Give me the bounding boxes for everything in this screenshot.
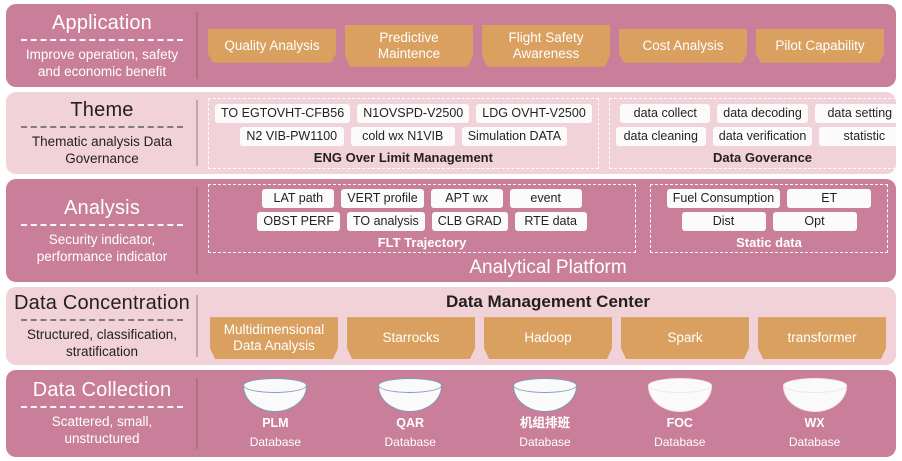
application-label-column: Application Improve operation, safety an…: [6, 4, 198, 87]
theme-group-data-goverance: data collect data decoding data setting …: [609, 98, 896, 168]
chip-grid: TO EGTOVHT-CFB56 N1OVSPD-V2500 LDG OVHT-…: [215, 104, 592, 146]
theme-group-caption-eng: ENG Over Limit Management: [215, 150, 592, 165]
analysis-chip-lat-path[interactable]: LAT path: [262, 189, 334, 208]
concentration-item-hadoop[interactable]: Hadoop: [484, 317, 612, 359]
concentration-layer-title: Data Concentration: [14, 292, 190, 315]
analysis-group-caption-static: Static data: [657, 235, 881, 250]
collection-layer-title: Data Collection: [33, 379, 172, 402]
analytical-platform-title: Analytical Platform: [208, 257, 888, 279]
theme-chip-statistic[interactable]: statistic: [819, 127, 896, 146]
theme-group-eng-over-limit: TO EGTOVHT-CFB56 N1OVSPD-V2500 LDG OVHT-…: [208, 98, 599, 168]
analysis-chip-et[interactable]: ET: [787, 189, 871, 208]
application-item-predictive-maintence[interactable]: Predictive Maintence: [345, 25, 473, 67]
concentration-item-multidimensional-data-analysis[interactable]: Multidimensional Data Analysis: [210, 317, 338, 359]
database-item-foc[interactable]: FOC Database: [648, 378, 712, 449]
application-item-cost-analysis[interactable]: Cost Analysis: [619, 29, 747, 63]
chip-row: N2 VIB-PW1100 cold wx N1VIB Simulation D…: [215, 127, 592, 146]
theme-chip-data-collect[interactable]: data collect: [620, 104, 710, 123]
concentration-item-starrocks[interactable]: Starrocks: [347, 317, 475, 359]
label-divider: [21, 126, 183, 128]
analysis-label-column: Analysis Security indicator, performance…: [6, 179, 198, 282]
database-name-qar: QAR: [396, 416, 424, 431]
analysis-layer-subtitle: Security indicator, performance indicato…: [14, 231, 190, 265]
layer-row-analysis: Analysis Security indicator, performance…: [6, 179, 896, 282]
concentration-label-column: Data Concentration Structured, classific…: [6, 287, 198, 364]
layer-row-theme: Theme Thematic analysis Data Governance …: [6, 92, 896, 173]
layer-row-data-collection: Data Collection Scattered, small, unstru…: [6, 370, 896, 457]
chip-row: Dist Opt: [657, 212, 881, 231]
layer-row-application: Application Improve operation, safety an…: [6, 4, 896, 87]
application-item-pilot-capability[interactable]: Pilot Capability: [756, 29, 884, 63]
database-cylinder-icon: [783, 378, 847, 412]
chip-grid: LAT path VERT profile APT wx event OBST …: [215, 189, 629, 231]
database-item-crew-scheduling[interactable]: 机组排班 Database: [513, 378, 577, 449]
analysis-chip-to-analysis[interactable]: TO analysis: [347, 212, 425, 231]
database-sublabel: Database: [654, 435, 705, 449]
application-items: Quality Analysis Predictive Maintence Fl…: [198, 4, 896, 87]
database-sublabel: Database: [519, 435, 570, 449]
database-item-plm[interactable]: PLM Database: [243, 378, 307, 449]
chip-row: data cleaning data verification statisti…: [616, 127, 896, 146]
application-layer-title: Application: [52, 12, 152, 35]
analysis-content: LAT path VERT profile APT wx event OBST …: [198, 179, 896, 282]
analysis-chip-clb-grad[interactable]: CLB GRAD: [432, 212, 508, 231]
cylinder-top: [513, 378, 577, 393]
analysis-group-caption-flt: FLT Trajectory: [215, 235, 629, 250]
label-divider: [21, 319, 183, 321]
cylinder-top: [378, 378, 442, 393]
database-item-qar[interactable]: QAR Database: [378, 378, 442, 449]
database-name-foc: FOC: [667, 416, 693, 431]
chip-row: OBST PERF TO analysis CLB GRAD RTE data: [215, 212, 629, 231]
application-item-flight-safety-awareness[interactable]: Flight Safety Awareness: [482, 25, 610, 67]
database-name-plm: PLM: [262, 416, 288, 431]
database-cylinder-icon: [378, 378, 442, 412]
database-cylinder-icon: [243, 378, 307, 412]
analysis-chip-obst-perf[interactable]: OBST PERF: [257, 212, 340, 231]
database-item-wx[interactable]: WX Database: [783, 378, 847, 449]
theme-label-column: Theme Thematic analysis Data Governance: [6, 92, 198, 173]
label-divider: [21, 406, 183, 408]
chip-grid: data collect data decoding data setting …: [616, 104, 896, 146]
collection-label-column: Data Collection Scattered, small, unstru…: [6, 370, 198, 457]
theme-chip-data-cleaning[interactable]: data cleaning: [616, 127, 706, 146]
theme-chip-data-verification[interactable]: data verification: [713, 127, 813, 146]
database-sublabel: Database: [250, 435, 301, 449]
concentration-items: Multidimensional Data Analysis Starrocks…: [208, 317, 888, 359]
database-name-wx: WX: [805, 416, 825, 431]
architecture-diagram: Application Improve operation, safety an…: [0, 0, 902, 461]
theme-groups: TO EGTOVHT-CFB56 N1OVSPD-V2500 LDG OVHT-…: [198, 92, 896, 173]
theme-chip-n1ovspd-v2500[interactable]: N1OVSPD-V2500: [357, 104, 469, 123]
analysis-chip-event[interactable]: event: [510, 189, 582, 208]
database-cylinder-icon: [513, 378, 577, 412]
theme-chip-to-egtovht-cfb56[interactable]: TO EGTOVHT-CFB56: [215, 104, 350, 123]
collection-databases: PLM Database QAR Database 机组排班 Database: [198, 370, 896, 457]
cylinder-top: [783, 378, 847, 393]
analysis-chip-vert-profile[interactable]: VERT profile: [341, 189, 423, 208]
cylinder-top: [243, 378, 307, 393]
analysis-chip-apt-wx[interactable]: APT wx: [431, 189, 503, 208]
database-name-crew-scheduling: 机组排班: [520, 416, 570, 431]
analysis-groups: LAT path VERT profile APT wx event OBST …: [208, 184, 888, 253]
concentration-item-transformer[interactable]: transformer: [758, 317, 886, 359]
chip-row: Fuel Consumption ET: [657, 189, 881, 208]
application-item-quality-analysis[interactable]: Quality Analysis: [208, 29, 336, 63]
analysis-chip-fuel-consumption[interactable]: Fuel Consumption: [667, 189, 780, 208]
application-layer-subtitle: Improve operation, safety and economic b…: [14, 46, 190, 80]
theme-chip-cold-wx-n1vib[interactable]: cold wx N1VIB: [351, 127, 455, 146]
database-sublabel: Database: [385, 435, 436, 449]
theme-chip-ldg-ovht-v2500[interactable]: LDG OVHT-V2500: [476, 104, 592, 123]
analysis-chip-opt[interactable]: Opt: [773, 212, 857, 231]
analysis-group-flt-trajectory: LAT path VERT profile APT wx event OBST …: [208, 184, 636, 253]
theme-chip-data-decoding[interactable]: data decoding: [717, 104, 808, 123]
concentration-item-spark[interactable]: Spark: [621, 317, 749, 359]
analysis-layer-title: Analysis: [64, 197, 140, 220]
concentration-layer-subtitle: Structured, classification, stratificati…: [14, 326, 190, 360]
label-divider: [21, 224, 183, 226]
theme-chip-n2-vib-pw1100[interactable]: N2 VIB-PW1100: [240, 127, 344, 146]
chip-row: LAT path VERT profile APT wx event: [215, 189, 629, 208]
theme-chip-data-setting[interactable]: data setting: [815, 104, 896, 123]
analysis-chip-dist[interactable]: Dist: [682, 212, 766, 231]
layer-row-data-concentration: Data Concentration Structured, classific…: [6, 287, 896, 364]
theme-layer-subtitle: Thematic analysis Data Governance: [14, 133, 190, 167]
analysis-group-static-data: Fuel Consumption ET Dist Opt Static data: [650, 184, 888, 253]
theme-layer-title: Theme: [70, 99, 133, 122]
label-divider: [21, 39, 183, 41]
collection-layer-subtitle: Scattered, small, unstructured: [14, 413, 190, 447]
chip-row: TO EGTOVHT-CFB56 N1OVSPD-V2500 LDG OVHT-…: [215, 104, 592, 123]
database-cylinder-icon: [648, 378, 712, 412]
analysis-chip-rte-data[interactable]: RTE data: [515, 212, 587, 231]
data-management-center-title: Data Management Center: [208, 292, 888, 312]
theme-chip-simulation-data[interactable]: Simulation DATA: [462, 127, 567, 146]
chip-row: data collect data decoding data setting: [616, 104, 896, 123]
concentration-content: Data Management Center Multidimensional …: [198, 287, 896, 364]
database-sublabel: Database: [789, 435, 840, 449]
theme-group-caption-goverance: Data Goverance: [616, 150, 896, 165]
cylinder-top: [648, 378, 712, 393]
chip-grid: Fuel Consumption ET Dist Opt: [657, 189, 881, 231]
